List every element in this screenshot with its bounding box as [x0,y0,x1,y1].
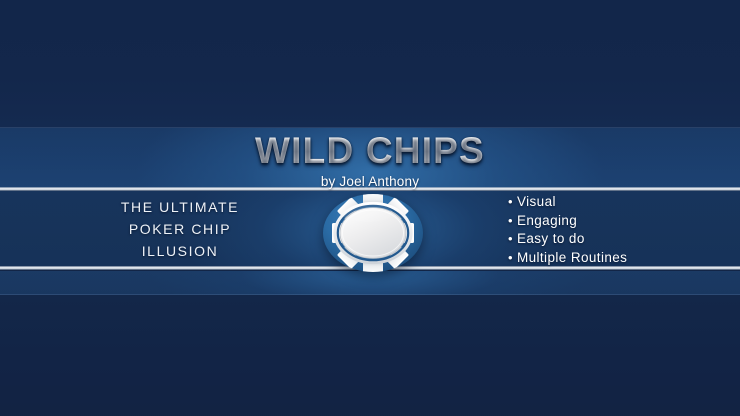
product-title: WILD CHIPS [0,128,740,171]
feature-label: Engaging [517,212,577,231]
list-item: • Engaging [508,212,627,231]
bullet-icon: • [508,212,513,231]
author-byline: by Joel Anthony [0,171,740,189]
bullet-icon: • [508,193,513,212]
lower-band [0,271,740,295]
feature-label: Easy to do [517,230,585,249]
bullet-icon: • [508,249,513,268]
feature-label: Multiple Routines [517,249,627,268]
background-bottom-panel [0,295,740,416]
title-block: WILD CHIPS by Joel Anthony [0,128,740,189]
tagline-block: THE ULTIMATE POKER CHIP ILLUSION [60,196,300,262]
bullet-icon: • [508,230,513,249]
tagline-line-1: THE ULTIMATE [60,196,300,218]
feature-label: Visual [517,193,556,212]
tagline-line-3: ILLUSION [60,240,300,262]
background-top-panel [0,0,740,128]
hairline-divider-bottom [0,294,740,295]
list-item: • Multiple Routines [508,249,627,268]
banner-artwork: WILD CHIPS by Joel Anthony THE ULTIMATE … [0,0,740,416]
poker-chip-icon [322,193,424,273]
list-item: • Visual [508,193,627,212]
list-item: • Easy to do [508,230,627,249]
feature-list: • Visual • Engaging • Easy to do • Multi… [508,193,627,267]
tagline-line-2: POKER CHIP [60,218,300,240]
